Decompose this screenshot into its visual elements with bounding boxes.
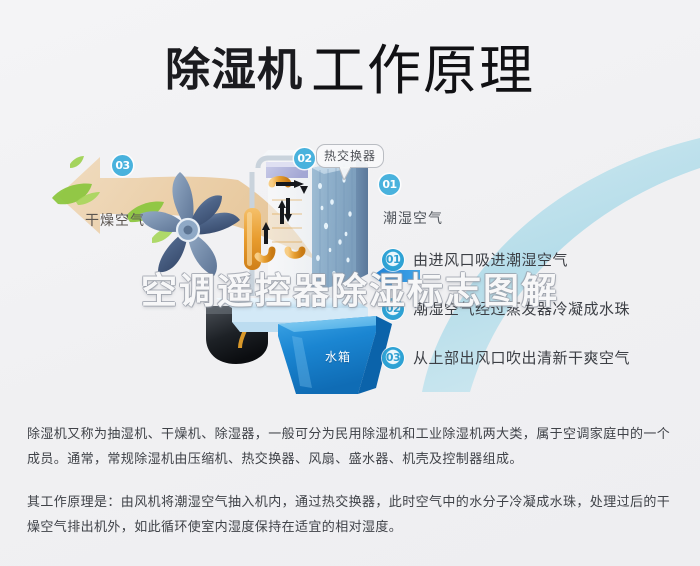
page-title-primary: 除湿机 [165, 43, 303, 96]
step-text: 由进风口吸进潮湿空气 [413, 248, 568, 272]
water-tank-icon [206, 298, 392, 394]
step-badge-01: 01 [382, 249, 404, 271]
page-title-secondary: 工作原理 [311, 39, 535, 102]
description-block: 除湿机又称为抽湿机、干燥机、除湿器，一般可分为民用除湿机和工业除湿机两大类，属于… [27, 422, 675, 540]
step-number: 02 [382, 298, 404, 320]
step-number: 01 [382, 249, 404, 271]
step-item: 03 从上部出风口吹出清新干爽空气 [382, 346, 682, 373]
page-root: 除湿机工作原理 [0, 0, 700, 566]
description-paragraph-1: 除湿机又称为抽湿机、干燥机、除湿器，一般可分为民用除湿机和工业除湿机两大类，属于… [27, 422, 675, 472]
page-title: 除湿机工作原理 [0, 26, 700, 105]
step-item: 01 由进风口吸进潮湿空气 [382, 248, 682, 275]
step-number: 03 [382, 347, 404, 369]
step-badge-03: 03 [382, 347, 404, 369]
step-item: 02 潮湿空气经过蒸发器冷凝成水珠 [382, 297, 682, 324]
step-text: 潮湿空气经过蒸发器冷凝成水珠 [413, 297, 630, 321]
description-paragraph-2: 其工作原理是：由风机将潮湿空气抽入机内，通过热交换器，此时空气中的水分子冷凝成水… [27, 490, 675, 540]
step-text: 从上部出风口吹出清新干爽空气 [413, 346, 630, 370]
step-list: 01 由进风口吸进潮湿空气 02 潮湿空气经过蒸发器冷凝成水珠 03 从上部出风… [382, 248, 682, 395]
step-badge-02: 02 [382, 298, 404, 320]
